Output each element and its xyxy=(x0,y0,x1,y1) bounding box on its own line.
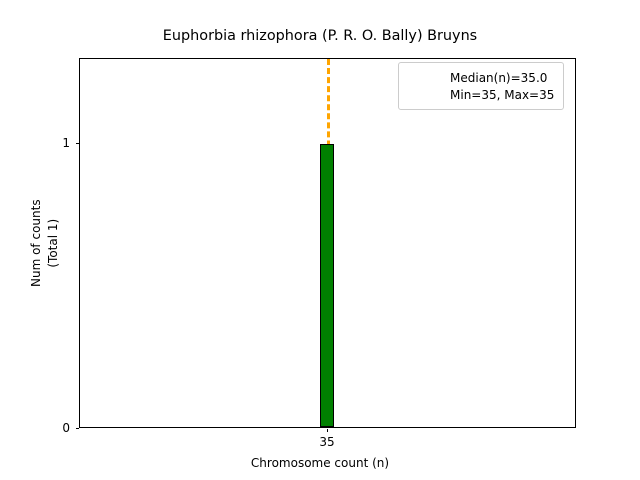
plot-axes xyxy=(79,58,576,428)
chart-figure: Euphorbia rhizophora (P. R. O. Bally) Br… xyxy=(0,0,640,480)
legend-entry-minmax: Min=35, Max=35 xyxy=(407,86,554,103)
legend-key-blank xyxy=(407,88,441,102)
legend-label-median: Median(n)=35.0 xyxy=(450,71,547,85)
y-tick-label-0: 0 xyxy=(48,421,70,435)
x-tick-label-35: 35 xyxy=(319,435,334,449)
chart-title: Euphorbia rhizophora (P. R. O. Bally) Br… xyxy=(0,28,640,44)
plot-area xyxy=(80,59,575,427)
legend-entry-median: Median(n)=35.0 xyxy=(407,69,554,86)
legend-label-minmax: Min=35, Max=35 xyxy=(450,88,554,102)
y-axis-label-line-1: Num of counts xyxy=(28,199,45,287)
x-axis-label: Chromosome count (n) xyxy=(0,456,640,470)
dashed-line-icon xyxy=(407,71,441,85)
bar-35 xyxy=(320,144,334,427)
x-tick-mark-35 xyxy=(327,429,328,433)
y-axis-label-line-2: (Total 1) xyxy=(45,199,62,287)
y-tick-label-1: 1 xyxy=(48,136,70,150)
chart-legend: Median(n)=35.0 Min=35, Max=35 xyxy=(398,62,564,110)
